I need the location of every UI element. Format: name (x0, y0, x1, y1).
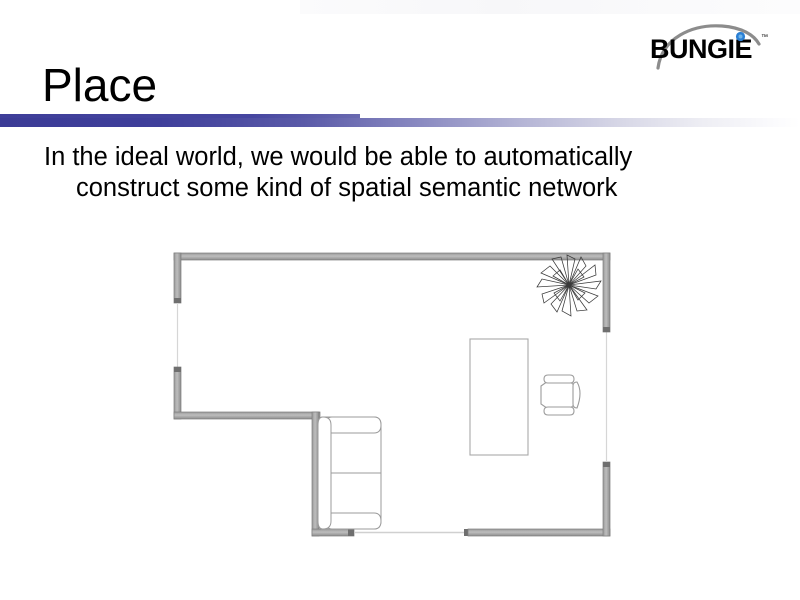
plant-icon (537, 255, 601, 316)
body-line-2: construct some kind of spatial semantic … (44, 173, 664, 204)
top-tint-band (300, 0, 800, 14)
sofa (318, 417, 381, 529)
page-title: Place (42, 59, 157, 111)
body-text: In the ideal world, we would be able to … (44, 142, 664, 204)
armchair (541, 375, 580, 415)
body-line-1: In the ideal world, we would be able to … (44, 143, 632, 171)
table (470, 339, 528, 455)
bungie-logo: BUNGIE ™ (648, 22, 773, 70)
floorplan-diagram (160, 240, 640, 550)
logo-trademark-icon: ™ (761, 34, 768, 41)
divider (0, 118, 800, 127)
